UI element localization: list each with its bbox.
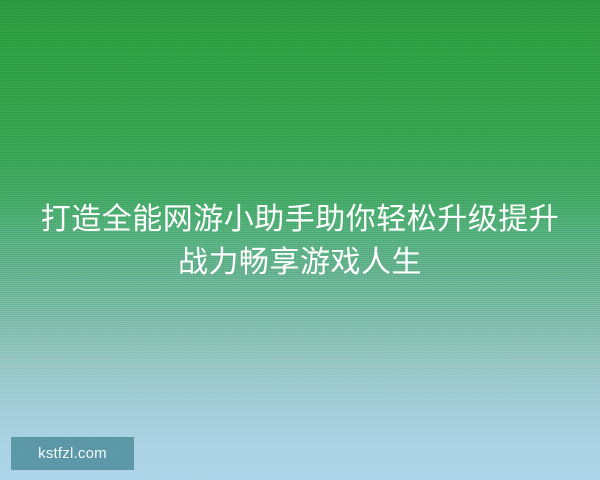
watermark-label: kstfzl.com bbox=[38, 446, 107, 461]
banner-headline: 打造全能网游小助手助你轻松升级提升战力畅享游戏人生 bbox=[26, 198, 574, 284]
watermark-badge: kstfzl.com bbox=[11, 437, 134, 470]
promo-banner: 打造全能网游小助手助你轻松升级提升战力畅享游戏人生 kstfzl.com bbox=[0, 0, 600, 480]
